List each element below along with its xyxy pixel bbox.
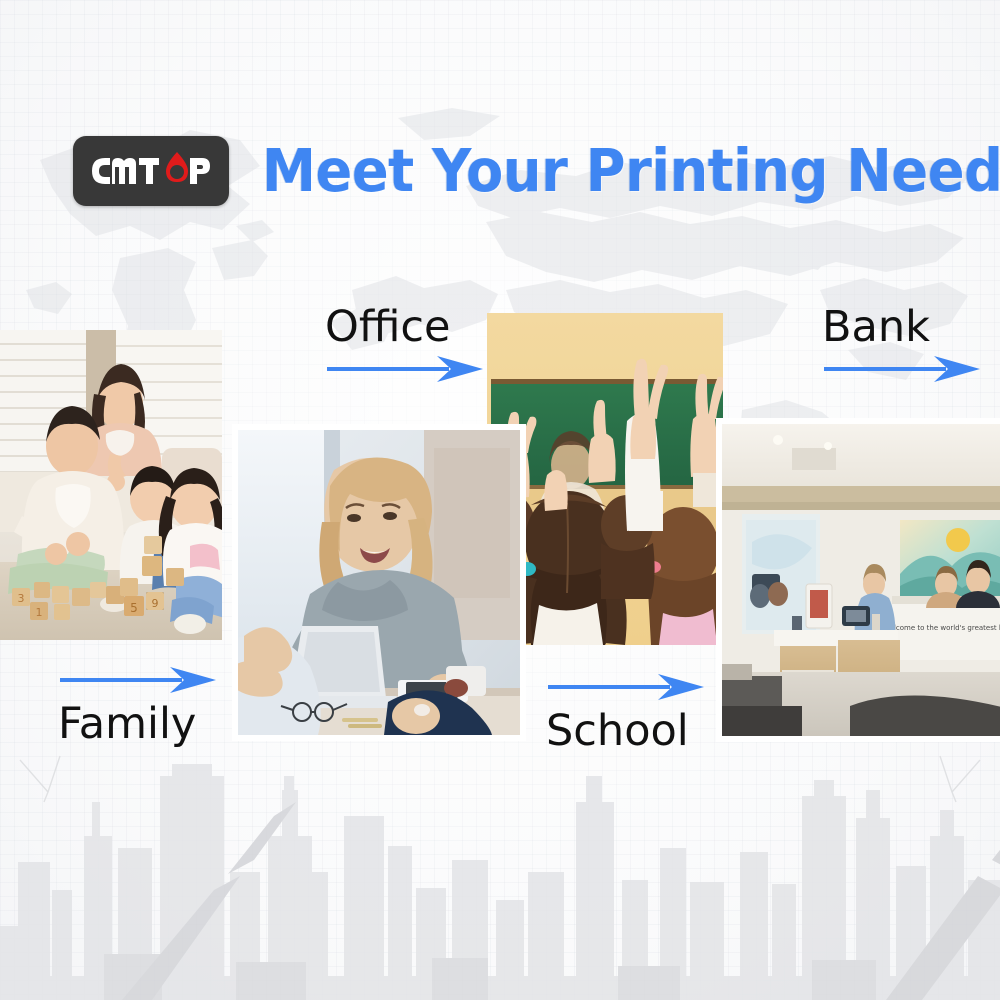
category-label-family: Family — [58, 699, 218, 749]
svg-text:5: 5 — [130, 601, 138, 615]
cmtop-logo-icon — [84, 150, 218, 192]
cityscape-watermark — [0, 740, 1000, 1000]
category-label-bank: Bank — [822, 302, 982, 352]
page-title: Meet Your Printing Needs — [262, 131, 1000, 211]
category-label-school: School — [546, 706, 706, 756]
category-bank: Bank — [822, 302, 982, 384]
category-school: School — [546, 672, 706, 756]
svg-text:9: 9 — [152, 597, 159, 610]
category-office: Office — [325, 302, 485, 384]
right-arrow-icon — [546, 672, 706, 702]
svg-text:1: 1 — [36, 606, 43, 619]
family-photo: 3 1 5 9 — [0, 330, 222, 640]
category-label-office: Office — [325, 302, 485, 352]
bank-photo: welcome to the world's greatest bank — [722, 424, 1000, 736]
category-family: Family — [58, 665, 218, 749]
promo-banner: 3 1 5 9 — [0, 0, 1000, 1000]
right-arrow-icon — [822, 354, 982, 384]
bank-counter-sign: welcome to the world's greatest bank — [884, 624, 1000, 632]
brand-logo — [73, 136, 229, 206]
office-photo — [238, 430, 520, 735]
right-arrow-icon — [58, 665, 218, 695]
right-arrow-icon — [325, 354, 485, 384]
svg-text:3: 3 — [18, 592, 25, 605]
school-photo — [487, 313, 723, 645]
